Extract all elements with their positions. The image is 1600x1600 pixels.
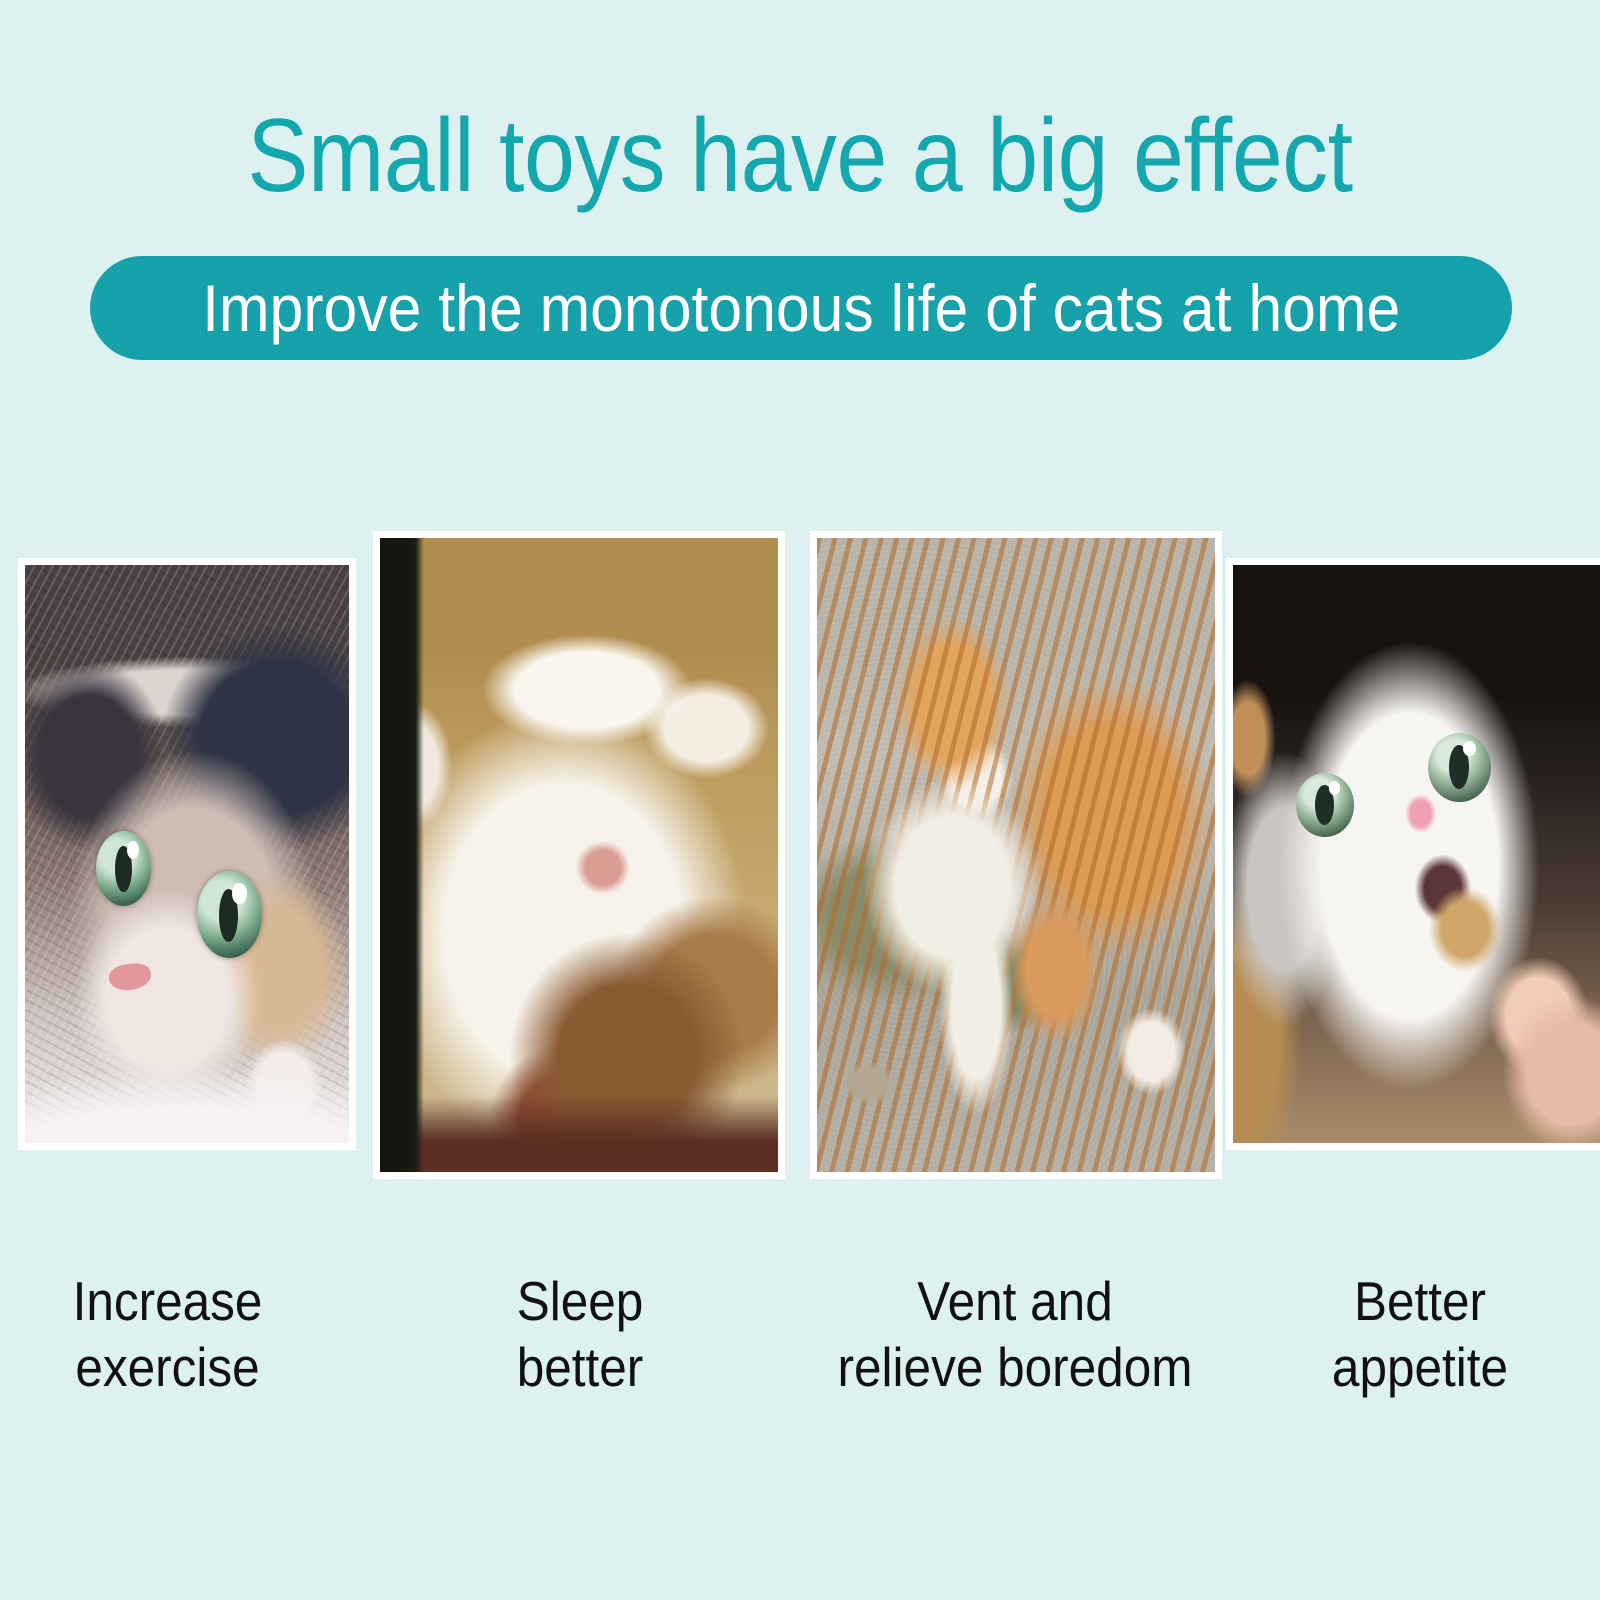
photo-frame-2 (373, 531, 785, 1179)
cat-eye-glint-right (232, 883, 246, 904)
cat-eye-glint-left (127, 841, 139, 859)
photo-frame-3 (810, 531, 1222, 1179)
caption-1-line-2: exercise (17, 1334, 319, 1400)
caption-2: Sleep better (400, 1268, 760, 1400)
photo-frame-4 (1226, 558, 1600, 1150)
cat-photo-sleep-better (380, 538, 778, 1172)
page-title: Small toys have a big effect (96, 104, 1504, 208)
caption-4-line-1: Better (1258, 1268, 1582, 1334)
cat-eye-glint-right (1463, 741, 1476, 756)
caption-4-line-2: appetite (1258, 1334, 1582, 1400)
cat-eye-left-icon (96, 831, 151, 906)
cat-nose (108, 961, 153, 993)
cat-eye-left-icon (1296, 773, 1355, 837)
cat-eye-right-icon (1428, 733, 1491, 802)
caption-4: Better appetite (1258, 1268, 1582, 1400)
caption-2-line-1: Sleep (400, 1268, 760, 1334)
cat-photo-vent-relieve-boredom (817, 538, 1215, 1172)
cat-photo-better-appetite (1233, 565, 1600, 1143)
cat-eye-right-icon (197, 871, 262, 958)
caption-3-line-1: Vent and (822, 1268, 1209, 1334)
caption-1-line-1: Increase (17, 1268, 319, 1334)
caption-2-line-2: better (400, 1334, 760, 1400)
infographic-page: Small toys have a big effect Improve the… (0, 0, 1600, 1600)
cat-eye-glint-left (1329, 781, 1341, 795)
photo-frame-1 (18, 558, 356, 1150)
cat-photo-increase-exercise (25, 565, 349, 1143)
subtitle-text: Improve the monotonous life of cats at h… (202, 275, 1400, 341)
caption-3: Vent and relieve boredom (822, 1268, 1209, 1400)
subtitle-banner: Improve the monotonous life of cats at h… (90, 256, 1512, 360)
caption-1: Increase exercise (17, 1268, 319, 1400)
caption-3-line-2: relieve boredom (822, 1334, 1209, 1400)
